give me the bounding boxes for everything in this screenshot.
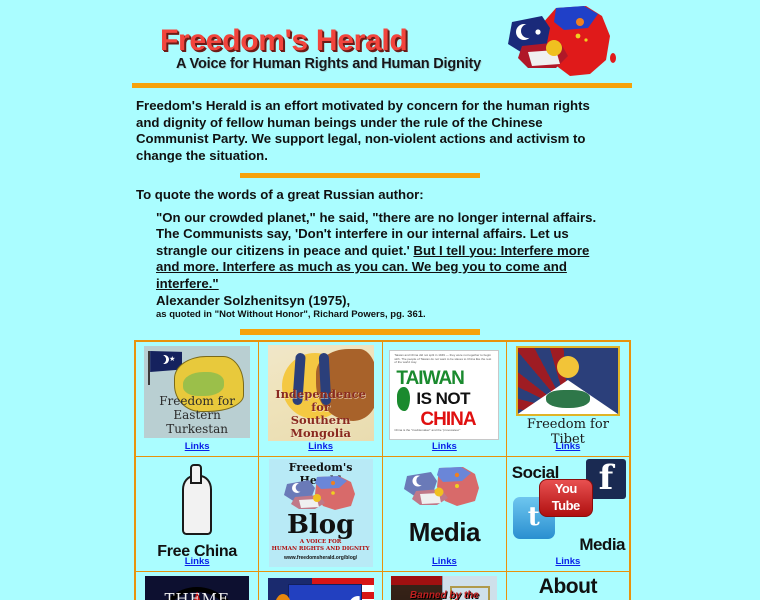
quote-divider	[240, 329, 480, 335]
link-tile-grid: ★ Freedom for Eastern Turkestan Links	[134, 340, 631, 600]
tile-links-link[interactable]: Links	[432, 441, 457, 452]
question-mark-icon: ?	[552, 594, 583, 600]
quote-block: "On our crowded planet," he said, "there…	[156, 210, 611, 322]
table-row: THEME PARK KILLERS	[135, 572, 630, 600]
tile-eastern-turkestan[interactable]: ★ Freedom for Eastern Turkestan Links	[135, 341, 259, 457]
china-map-flags-logo-icon	[281, 474, 361, 512]
site-subtitle: A Voice for Human Rights and Human Digni…	[176, 56, 481, 72]
book-covers-icon: Banned by the Chinese Communist Party Av…	[391, 576, 497, 600]
quote-attribution: Alexander Solzhenitsyn (1975),	[156, 293, 611, 309]
tile-links-link[interactable]: Links	[555, 556, 580, 567]
tile-southern-mongolia[interactable]: Independence for Southern Mongolia Links	[259, 341, 383, 457]
tile-caption-line2: Eastern Turkestan	[144, 408, 250, 436]
tile-blog-tagline-2: HUMAN RIGHTS AND DIGNITY	[269, 546, 373, 553]
tile-links-link[interactable]: Links	[308, 441, 333, 452]
site-header: Freedom's Herald A Voice for Human Right…	[130, 0, 635, 80]
tile-links-link[interactable]: Links	[555, 441, 580, 452]
quote-text: "On our crowded planet," he said, "there…	[156, 210, 611, 293]
tile-links-link[interactable]: Links	[432, 556, 457, 567]
content-column: Freedom's Herald A Voice for Human Right…	[130, 0, 635, 600]
tile-caption-line1: Freedom for	[144, 394, 250, 408]
goddess-of-democracy-statue-icon	[182, 475, 212, 535]
page-title: Freedom's Herald	[160, 24, 407, 58]
tile-word-taiwan: TAIWAN	[396, 368, 464, 390]
intro-divider	[240, 173, 480, 178]
page-root: Freedom's Herald A Voice for Human Right…	[0, 0, 760, 600]
tile-theme-park-killers[interactable]: THEME PARK KILLERS	[135, 572, 259, 600]
youtube-line2: Tube	[540, 497, 592, 514]
table-row: ★ Freedom for Eastern Turkestan Links	[135, 341, 630, 457]
red-star-prohibition-sign-icon: THEME PARK KILLERS	[145, 576, 249, 600]
tile-blog-url: www.freedomsherald.org/blog/	[269, 555, 373, 561]
tile-caption-line1: Independence for	[268, 388, 374, 414]
china-map-flags-logo-icon	[498, 2, 623, 82]
tile-banned-books[interactable]: Banned by the Chinese Communist Party Av…	[383, 572, 507, 600]
tile-word-isnot: IS NOT	[416, 389, 470, 409]
tile-social-media[interactable]: Social f t You Tube Media Links	[506, 457, 630, 572]
tile-tibet[interactable]: Freedom for Tibet Links	[506, 341, 630, 457]
youtube-line1: You	[540, 480, 592, 497]
table-row: Free China Links Freedom's Herald	[135, 457, 630, 572]
tibetan-flag-icon	[516, 346, 620, 416]
tile-archive[interactable]: Archive CACCP Archive	[259, 572, 383, 600]
tile-about[interactable]: About	[506, 572, 630, 600]
mongolian-script-map-icon: Independence for Southern Mongolia	[268, 345, 374, 441]
tile-blog[interactable]: Freedom's Herald	[259, 457, 383, 572]
tile-taiwan-is-not-china[interactable]: Taiwan and China did not split in 1949 —…	[383, 341, 507, 457]
tile-blog-word: Blog	[269, 511, 373, 539]
china-map-flags-logo-icon	[401, 465, 487, 509]
tile-links-link[interactable]: Links	[185, 441, 210, 452]
tile-free-china[interactable]: Free China Links	[135, 457, 259, 572]
east-turkestan-flag-map-icon: ★ Freedom for Eastern Turkestan	[144, 346, 250, 438]
tile-word-line1: THEME	[145, 584, 249, 600]
tile-links-link[interactable]: Links	[185, 556, 210, 567]
youtube-icon: You Tube	[539, 479, 593, 517]
intro-paragraph: Freedom's Herald is an effort motivated …	[136, 98, 616, 164]
header-divider	[132, 83, 632, 88]
tile-caption: Media	[409, 517, 480, 548]
tile-media[interactable]: Media Links	[383, 457, 507, 572]
quote-attribution-source: as quoted in "Not Without Honor", Richar…	[156, 309, 611, 321]
tile-blog-tagline-1: A VOICE FOR	[269, 539, 373, 546]
tile-banner-line1: Banned by the	[391, 590, 497, 600]
tile-caption-line1: Freedom for	[527, 417, 609, 432]
us-flag-archive-banner-icon: Archive	[268, 578, 374, 600]
taiwan-poster-icon: Taiwan and China did not split in 1949 —…	[389, 350, 499, 440]
quote-lead-in: To quote the words of a great Russian au…	[136, 187, 616, 204]
